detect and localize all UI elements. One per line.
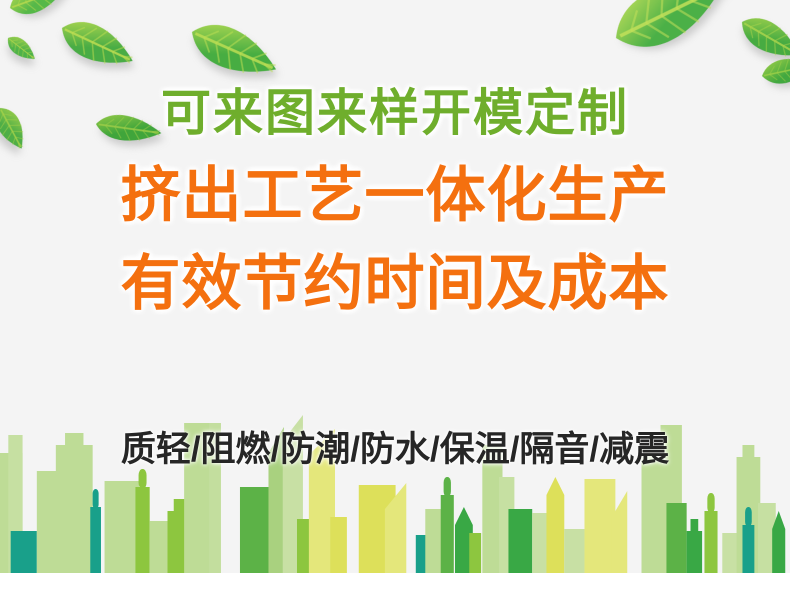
leaf-icon <box>55 13 140 77</box>
skyline-building <box>564 529 584 573</box>
skyline-building <box>11 531 37 573</box>
headline-primary: 可来图来样开模定制 <box>0 88 790 138</box>
skyline-building <box>508 509 532 573</box>
leaf-icon <box>3 32 40 65</box>
headline-block: 可来图来样开模定制 挤出工艺一体化生产 有效节约时间及成本 <box>0 88 790 314</box>
promo-banner: 可来图来样开模定制 挤出工艺一体化生产 有效节约时间及成本 质轻/阻燃/防潮/防… <box>0 0 790 600</box>
headline-tertiary: 有效节约时间及成本 <box>0 254 790 314</box>
skyline-building <box>584 479 615 573</box>
skyline-building <box>37 471 58 573</box>
leaf-icon <box>735 9 790 67</box>
leaf-icon <box>6 0 69 20</box>
skyline-building <box>687 519 702 573</box>
bottom-white-strip <box>0 573 790 600</box>
skyline-building <box>546 477 564 573</box>
leaf-icon <box>604 0 733 62</box>
leaf-icon <box>760 53 790 87</box>
skyline-building <box>666 503 686 573</box>
skyline-building <box>330 517 347 573</box>
subtitle-row: 质轻/阻燃/防潮/防水/保温/隔音/减震 <box>0 421 790 472</box>
skyline-building <box>105 481 139 573</box>
headline-secondary: 挤出工艺一体化生产 <box>0 166 790 226</box>
skyline-building <box>441 477 454 573</box>
skyline-building <box>704 493 717 573</box>
skyline-building <box>469 533 481 573</box>
feature-list-text: 质轻/阻燃/防潮/防水/保温/隔音/减震 <box>121 421 669 472</box>
leaf-icon <box>184 14 284 87</box>
